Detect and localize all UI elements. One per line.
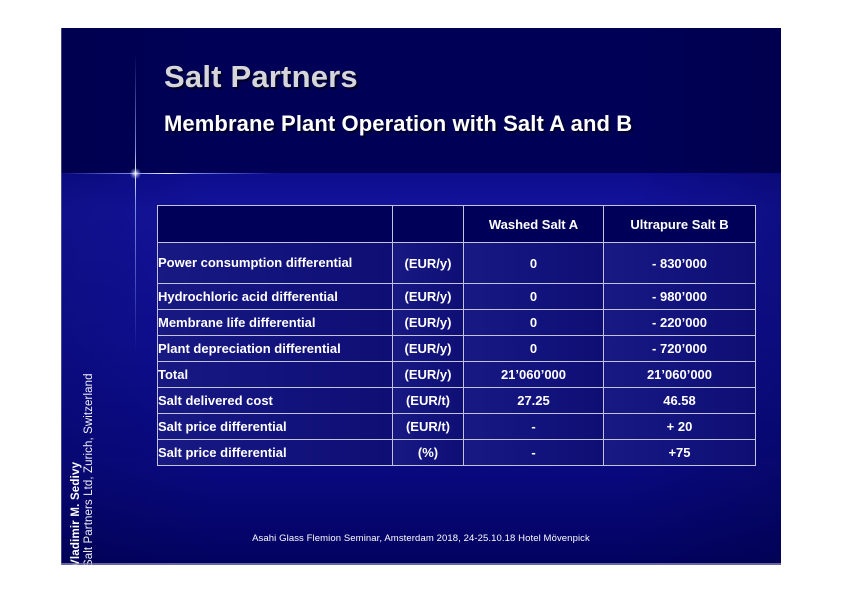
table-cell-unit: (EUR/y) bbox=[393, 310, 464, 336]
table-cell-unit: (EUR/y) bbox=[393, 284, 464, 310]
slide-bottom-border bbox=[61, 563, 781, 565]
table-cell-salt-a: 0 bbox=[464, 243, 604, 284]
table-cell-label: Salt delivered cost bbox=[158, 388, 393, 414]
table-cell-unit: (EUR/y) bbox=[393, 243, 464, 284]
table-cell-salt-a: - bbox=[464, 440, 604, 466]
table-cell-salt-a: 0 bbox=[464, 336, 604, 362]
table-cell-unit: (EUR/y) bbox=[393, 362, 464, 388]
table-header-ultrapure-salt-b: Ultrapure Salt B bbox=[604, 206, 756, 243]
table-cell-salt-a: 21’060’000 bbox=[464, 362, 604, 388]
table-row: Salt delivered cost(EUR/t)27.2546.58 bbox=[158, 388, 756, 414]
table-cell-salt-b: +75 bbox=[604, 440, 756, 466]
table-row: Total(EUR/y)21’060’00021’060’000 bbox=[158, 362, 756, 388]
sparkle-vertical-ray bbox=[135, 53, 136, 353]
table-row: Membrane life differential(EUR/y)0- 220’… bbox=[158, 310, 756, 336]
table-body: Power consumption differential(EUR/y)0- … bbox=[158, 243, 756, 466]
table-cell-salt-a: 0 bbox=[464, 284, 604, 310]
table-cell-salt-b: - 830’000 bbox=[604, 243, 756, 284]
cost-comparison-table: Washed Salt A Ultrapure Salt B Power con… bbox=[157, 205, 756, 466]
table-cell-label: Hydrochloric acid differential bbox=[158, 284, 393, 310]
page-title: Salt Partners bbox=[164, 59, 358, 95]
table-cell-salt-a: 0 bbox=[464, 310, 604, 336]
presentation-slide: Salt Partners Membrane Plant Operation w… bbox=[61, 28, 781, 565]
author-organization: Salt Partners Ltd, Zurich, Switzerland bbox=[83, 337, 96, 565]
table-header-label bbox=[158, 206, 393, 243]
table-cell-salt-a: 27.25 bbox=[464, 388, 604, 414]
table-cell-unit: (%) bbox=[393, 440, 464, 466]
table-cell-label: Salt price differential bbox=[158, 414, 393, 440]
table-cell-label: Salt price differential bbox=[158, 440, 393, 466]
table-cell-salt-b: - 980’000 bbox=[604, 284, 756, 310]
sparkle-horizontal-ray bbox=[61, 173, 276, 174]
table-cell-label: Total bbox=[158, 362, 393, 388]
table-row: Hydrochloric acid differential(EUR/y)0- … bbox=[158, 284, 756, 310]
table-cell-salt-b: 46.58 bbox=[604, 388, 756, 414]
table-row: Salt price differential(EUR/t)-+ 20 bbox=[158, 414, 756, 440]
author-sidebar: Vladimir M. Sedivy Salt Partners Ltd, Zu… bbox=[70, 337, 106, 565]
table-header-unit bbox=[393, 206, 464, 243]
table-cell-salt-b: 21’060’000 bbox=[604, 362, 756, 388]
footer-note: Asahi Glass Flemion Seminar, Amsterdam 2… bbox=[61, 533, 781, 544]
table-header: Washed Salt A Ultrapure Salt B bbox=[158, 206, 756, 243]
table-cell-salt-a: - bbox=[464, 414, 604, 440]
page-subtitle: Membrane Plant Operation with Salt A and… bbox=[164, 111, 632, 137]
author-name: Vladimir M. Sedivy bbox=[70, 337, 83, 565]
table-cell-label: Plant depreciation differential bbox=[158, 336, 393, 362]
table-cell-unit: (EUR/t) bbox=[393, 414, 464, 440]
table-cell-label: Membrane life differential bbox=[158, 310, 393, 336]
table-cell-unit: (EUR/t) bbox=[393, 388, 464, 414]
table-row: Plant depreciation differential(EUR/y)0-… bbox=[158, 336, 756, 362]
slide-left-border bbox=[61, 28, 62, 565]
table-cell-unit: (EUR/y) bbox=[393, 336, 464, 362]
sparkle-core bbox=[130, 168, 141, 179]
table-header-row: Washed Salt A Ultrapure Salt B bbox=[158, 206, 756, 243]
table-cell-salt-b: + 20 bbox=[604, 414, 756, 440]
table-cell-salt-b: - 220’000 bbox=[604, 310, 756, 336]
table-cell-label: Power consumption differential bbox=[158, 243, 393, 284]
table-cell-salt-b: - 720’000 bbox=[604, 336, 756, 362]
table-row: Power consumption differential(EUR/y)0- … bbox=[158, 243, 756, 284]
table-row: Salt price differential(%)-+75 bbox=[158, 440, 756, 466]
table-header-washed-salt-a: Washed Salt A bbox=[464, 206, 604, 243]
